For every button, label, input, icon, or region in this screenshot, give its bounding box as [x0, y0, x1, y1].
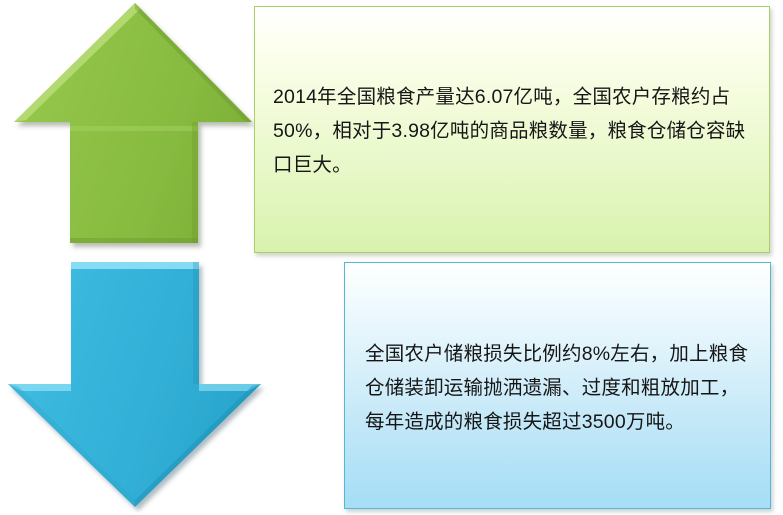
- arrow-down-shape: [0, 254, 272, 513]
- blue-callout-box[interactable]: 全国农户储粮损失比例约8%左右，加上粮食仓储装卸运输抛洒遗漏、过度和粗放加工，每…: [344, 262, 771, 509]
- slide-canvas: 2014年全国粮食产量达6.07亿吨，全国农户存粮约占50%，相对于3.98亿吨…: [0, 0, 783, 515]
- arrow-up-shape: [0, 0, 256, 254]
- blue-callout-text: 全国农户储粮损失比例约8%左右，加上粮食仓储装卸运输抛洒遗漏、过度和粗放加工，每…: [345, 337, 770, 439]
- arrow-up-icon[interactable]: [0, 0, 256, 254]
- green-callout-box[interactable]: 2014年全国粮食产量达6.07亿吨，全国农户存粮约占50%，相对于3.98亿吨…: [254, 6, 770, 253]
- green-callout-text: 2014年全国粮食产量达6.07亿吨，全国农户存粮约占50%，相对于3.98亿吨…: [255, 80, 769, 182]
- arrow-down-icon[interactable]: [0, 254, 272, 513]
